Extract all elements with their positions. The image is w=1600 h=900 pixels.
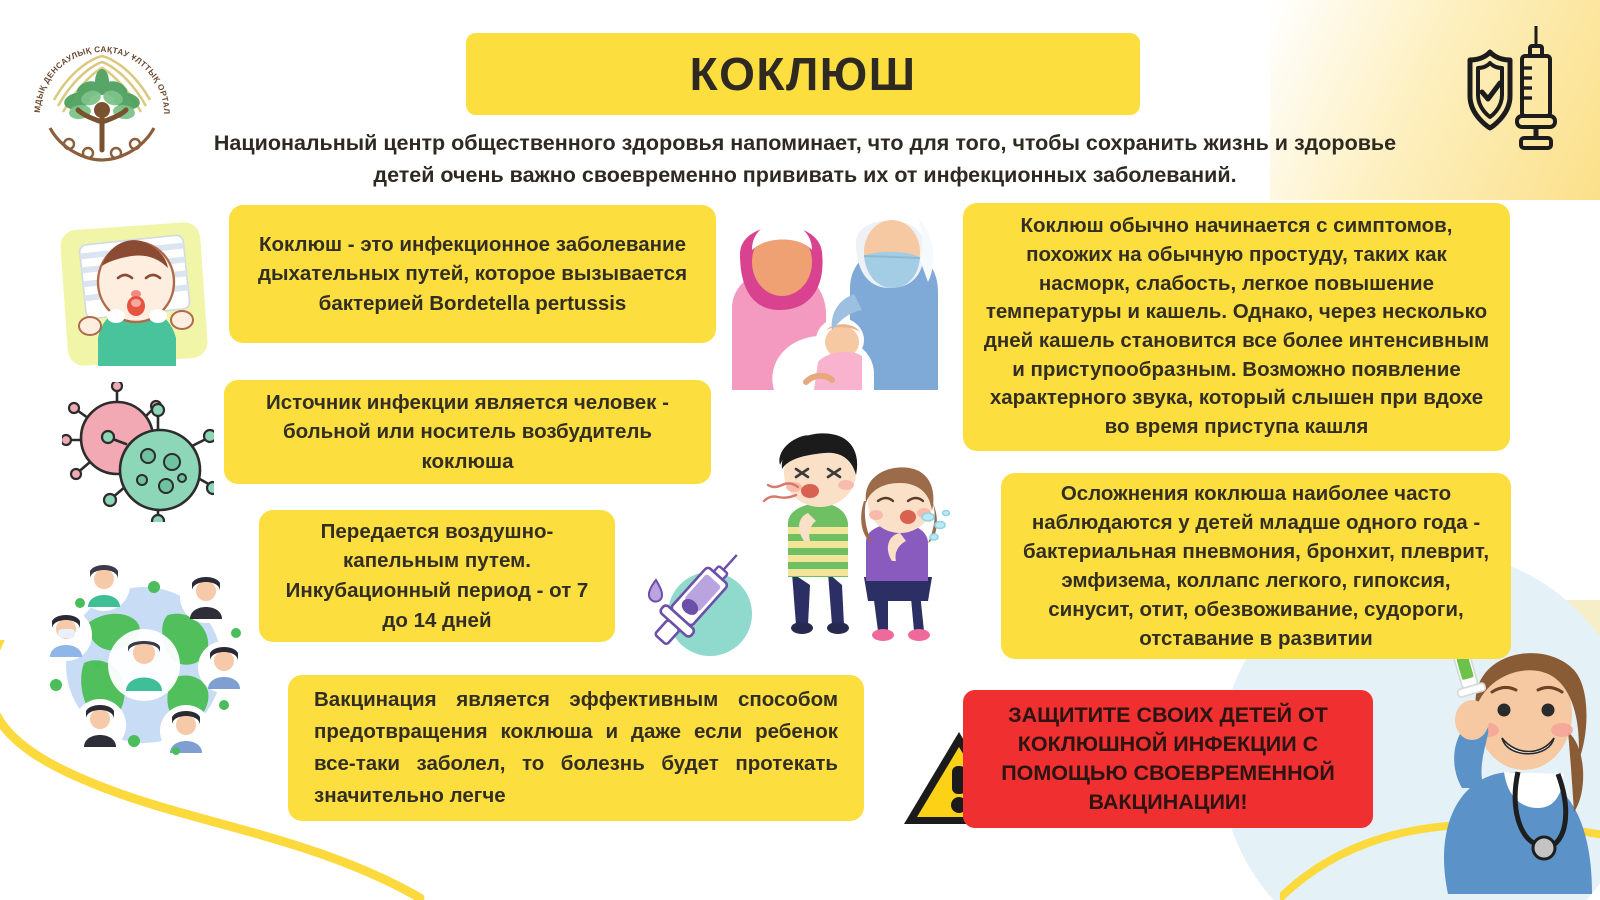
coughing-boy (764, 433, 857, 634)
info-box-transmission: Передается воздушно-капельным путем. Инк… (259, 510, 615, 642)
mother-baby-nurse-illustration (722, 196, 942, 390)
info-box-transmission-text: Передается воздушно-капельным путем. Инк… (275, 517, 599, 636)
info-box-definition: Коклюш - это инфекционное заболевание ды… (229, 205, 716, 343)
call-to-action-box: ЗАЩИТИТЕ СВОИХ ДЕТЕЙ ОТ КОКЛЮШНОЙ ИНФЕКЦ… (963, 690, 1373, 828)
info-box-vaccination-text: Вакцинация является эффективным способом… (314, 684, 838, 811)
info-box-complications: Осложнения коклюша наиболее часто наблюд… (1001, 473, 1511, 659)
coughing-girl (861, 467, 949, 641)
info-box-definition-text: Коклюш - это инфекционное заболевание ды… (251, 230, 694, 317)
virus-particles-illustration (62, 382, 214, 522)
organization-logo: ҚОҒАМДЫҚ ДЕНСАУЛЫҚ САҚТАУ ҰЛТТЫҚ ОРТАЛЫҒ… (22, 22, 182, 172)
call-to-action-text: ЗАЩИТИТЕ СВОИХ ДЕТЕЙ ОТ КОКЛЮШНОЙ ИНФЕКЦ… (977, 701, 1359, 817)
info-box-complications-text: Осложнения коклюша наиболее часто наблюд… (1017, 479, 1495, 654)
info-box-source: Источник инфекции является человек - бол… (224, 380, 711, 484)
shield-check-icon (1470, 52, 1510, 128)
page-subtitle: Национальный центр общественного здоровь… (200, 127, 1410, 192)
info-box-vaccination: Вакцинация является эффективным способом… (288, 675, 864, 821)
coughing-baby-illustration (60, 220, 210, 368)
info-box-source-text: Источник инфекции является человек - бол… (242, 388, 693, 475)
info-box-symptoms: Коклюш обычно начинается с симптомов, по… (963, 203, 1510, 451)
coughing-children-illustration (752, 425, 964, 653)
poster-canvas: ҚОҒАМДЫҚ ДЕНСАУЛЫҚ САҚТАУ ҰЛТТЫҚ ОРТАЛЫҒ… (0, 0, 1600, 900)
page-title: КОКЛЮШ (690, 47, 917, 101)
info-box-symptoms-text: Коклюш обычно начинается с симптомов, по… (981, 212, 1492, 442)
title-banner: КОКЛЮШ (466, 33, 1140, 115)
globe-sick-people-illustration (28, 545, 260, 763)
syringe-icon (1517, 26, 1555, 148)
tree-person-logo-icon: ҚОҒАМДЫҚ ДЕНСАУЛЫҚ САҚТАУ ҰЛТТЫҚ ОРТАЛЫҒ… (22, 22, 182, 172)
purple-syringe-illustration (634, 538, 762, 660)
nurse-with-syringe-illustration (1392, 622, 1592, 894)
header-icon-group (1428, 22, 1578, 152)
